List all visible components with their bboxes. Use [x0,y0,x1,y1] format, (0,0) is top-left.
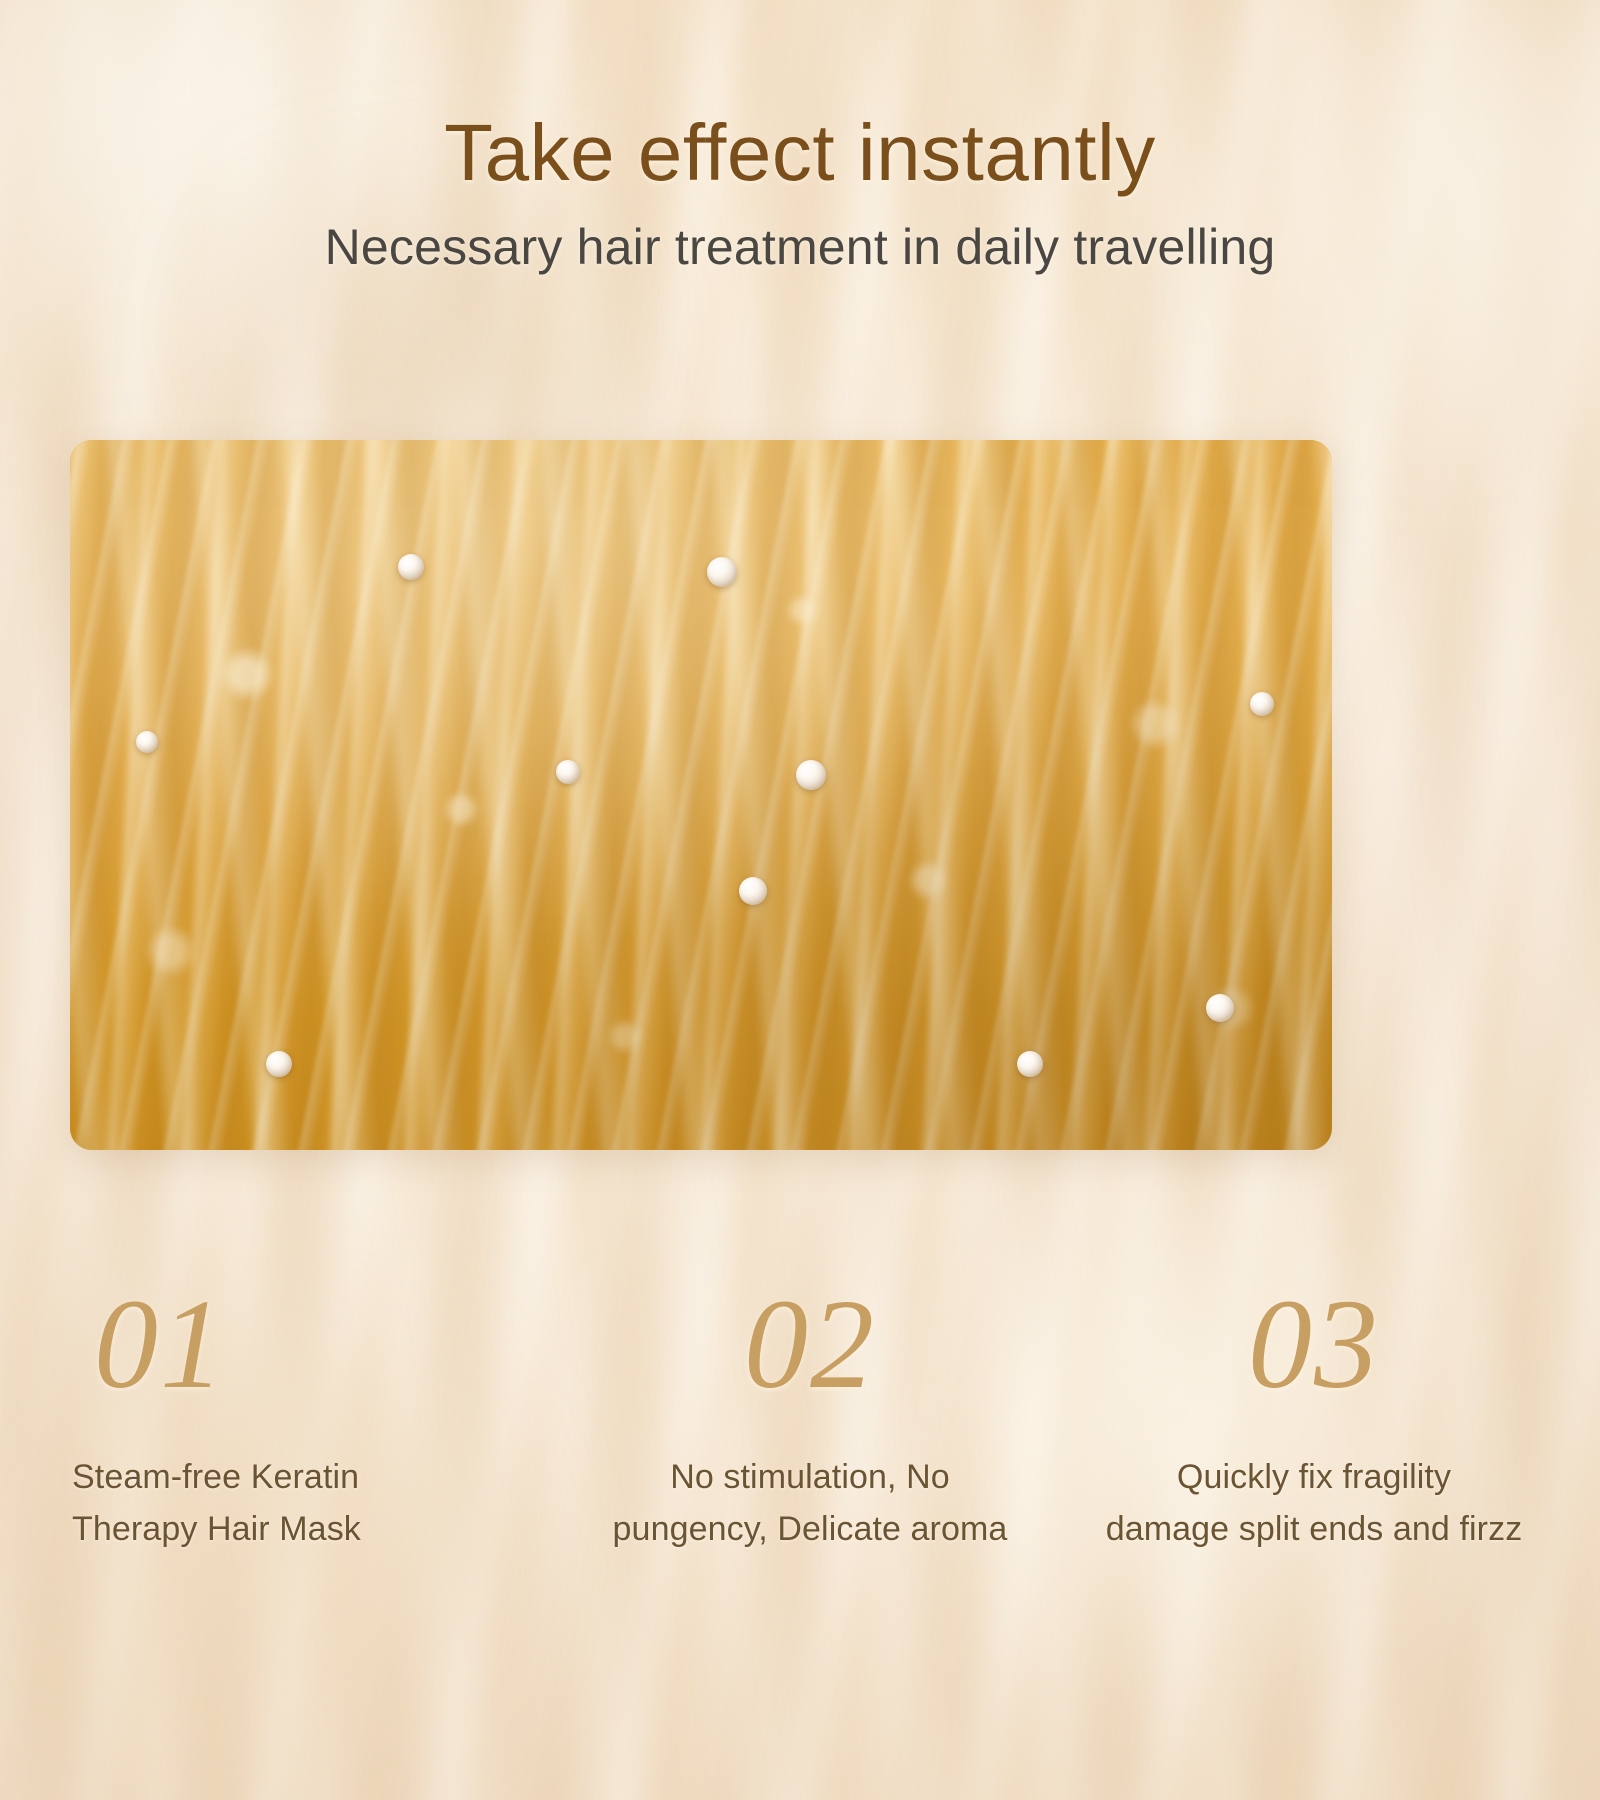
pearl-bead [136,731,158,753]
pearl-bead [1017,1051,1043,1077]
feature-caption-03-line2: damage split ends and firzz [1080,1504,1548,1556]
cream-sheen-overlay [70,440,1332,1150]
feature-caption-02: No stimulation, No pungency, Delicate ar… [576,1452,1044,1555]
feature-caption-01-line2: Therapy Hair Mask [72,1504,540,1556]
feature-caption-03-line1: Quickly fix fragility [1080,1452,1548,1504]
pearl-bead [739,877,767,905]
feature-caption-01-line1: Steam-free Keratin [72,1452,540,1504]
page-headline: Take effect instantly [0,110,1600,196]
feature-item-03: 03 Quickly fix fragility damage split en… [1062,1280,1600,1555]
feature-number-02: 02 [576,1280,1044,1408]
pearl-bead [1206,994,1234,1022]
feature-number-01: 01 [94,1280,540,1408]
pearl-bead [796,760,826,790]
feature-caption-03: Quickly fix fragility damage split ends … [1080,1452,1548,1555]
feature-list: 01 Steam-free Keratin Therapy Hair Mask … [0,1280,1600,1555]
page-subheadline: Necessary hair treatment in daily travel… [0,218,1600,277]
feature-number-03: 03 [1080,1280,1548,1408]
feature-item-01: 01 Steam-free Keratin Therapy Hair Mask [0,1280,558,1555]
feature-caption-02-line2: pungency, Delicate aroma [576,1504,1044,1556]
feature-caption-02-line1: No stimulation, No [576,1452,1044,1504]
feature-caption-01: Steam-free Keratin Therapy Hair Mask [72,1452,540,1555]
header-block: Take effect instantly Necessary hair tre… [0,110,1600,277]
pearl-bead [266,1051,292,1077]
hero-product-photo [70,440,1332,1150]
feature-item-02: 02 No stimulation, No pungency, Delicate… [558,1280,1062,1555]
pearl-bead [1250,692,1274,716]
pearl-bead [398,554,424,580]
pearl-bead [556,760,580,784]
